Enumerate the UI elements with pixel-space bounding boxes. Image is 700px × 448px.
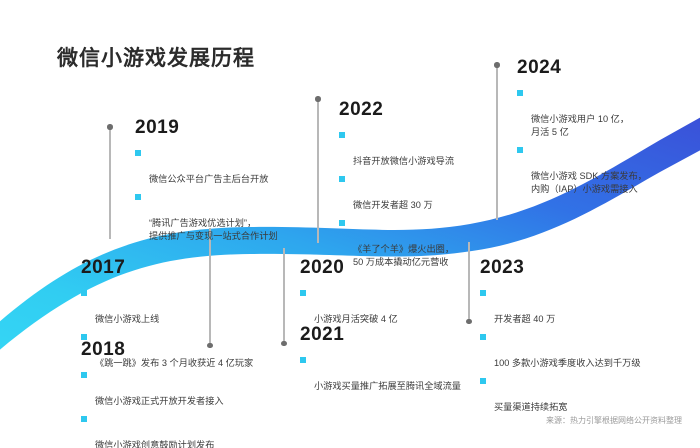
list-item-text: 抖音开放微信小游戏导流 <box>353 156 454 166</box>
milestone-items-2024: 微信小游戏用户 10 亿， 月活 5 亿 微信小游戏 SDK 方案发布， 内购（… <box>517 86 689 197</box>
list-item: 微信小游戏 SDK 方案发布， 内购（IAP）小游戏需接入 <box>517 143 689 196</box>
list-item: 微信小游戏用户 10 亿， 月活 5 亿 <box>517 86 689 139</box>
list-item-text: 微信小游戏用户 10 亿， 月活 5 亿 <box>531 114 629 137</box>
bullet-square-icon <box>517 90 523 96</box>
page-title: 微信小游戏发展历程 <box>57 42 255 72</box>
list-item-text: 微信小游戏 SDK 方案发布， 内购（IAP）小游戏需接入 <box>531 171 647 194</box>
list-item: 买量渠道持续拓宽 <box>480 374 675 414</box>
bullet-square-icon <box>517 147 523 153</box>
year-label-2023: 2023 <box>480 258 675 277</box>
list-item: “腾讯广告游戏优选计划”， 提供推广与变现一站式合作计划 <box>135 190 310 243</box>
list-item: 小游戏买量推广拓展至腾讯全域流量 <box>300 353 495 393</box>
bullet-square-icon <box>339 132 345 138</box>
connector-dot <box>315 96 321 102</box>
list-item-text: 微信小游戏上线 <box>95 314 159 324</box>
list-item: 微信小游戏正式开放开发者接入 <box>81 368 281 408</box>
list-item-text: 小游戏买量推广拓展至腾讯全域流量 <box>314 381 461 391</box>
bullet-square-icon <box>339 220 345 226</box>
bullet-square-icon <box>300 357 306 363</box>
list-item-text: 微信小游戏正式开放开发者接入 <box>95 396 224 406</box>
list-item: 微信小游戏上线 <box>81 286 281 326</box>
bullet-square-icon <box>339 176 345 182</box>
list-item-text: 小游戏月活突破 4 亿 <box>314 314 398 324</box>
bullet-square-icon <box>81 372 87 378</box>
list-item-text: “腾讯广告游戏优选计划”， 提供推广与变现一站式合作计划 <box>149 218 278 241</box>
milestone-items-2021: 小游戏买量推广拓展至腾讯全域流量 <box>300 353 495 393</box>
bullet-square-icon <box>480 334 486 340</box>
list-item: 100 多款小游戏季度收入达到千万级 <box>480 330 675 370</box>
milestone-items-2018: 微信小游戏正式开放开发者接入 微信小游戏创意鼓励计划发布 <box>81 368 281 448</box>
bullet-square-icon <box>300 290 306 296</box>
list-item-text: 微信小游戏创意鼓励计划发布 <box>95 440 214 448</box>
year-label-2022: 2022 <box>339 100 504 119</box>
list-item-text: 开发者超 40 万 <box>494 314 555 324</box>
year-label-2017: 2017 <box>81 258 281 277</box>
year-label-2019: 2019 <box>135 118 310 137</box>
infographic-canvas: 微信小游戏发展历程 2019 微信公众平台广告主后台开放 <box>0 0 700 448</box>
bullet-square-icon <box>81 416 87 422</box>
list-item-text: 100 多款小游戏季度收入达到千万级 <box>494 358 641 368</box>
list-item: 抖音开放微信小游戏导流 <box>339 128 504 168</box>
bullet-square-icon <box>480 290 486 296</box>
list-item: 微信小游戏创意鼓励计划发布 <box>81 412 281 448</box>
milestone-2021: 2021 小游戏买量推广拓展至腾讯全域流量 <box>300 325 495 397</box>
milestone-2018: 2018 微信小游戏正式开放开发者接入 微信小游戏创意鼓励计划发布 <box>81 340 281 448</box>
connector-line <box>317 96 319 243</box>
list-item: 微信公众平台广告主后台开放 <box>135 146 310 186</box>
connector-dot <box>107 124 113 130</box>
year-label-2020: 2020 <box>300 258 485 277</box>
milestone-items-2019: 微信公众平台广告主后台开放 “腾讯广告游戏优选计划”， 提供推广与变现一站式合作… <box>135 146 310 243</box>
year-label-2018: 2018 <box>81 340 281 359</box>
list-item: 开发者超 40 万 <box>480 286 675 326</box>
bullet-square-icon <box>135 150 141 156</box>
list-item-text: 微信公众平台广告主后台开放 <box>149 174 268 184</box>
source-attribution: 来源：热力引擎根据网络公开资料整理 <box>546 415 682 426</box>
year-label-2024: 2024 <box>517 58 689 77</box>
milestone-items-2023: 开发者超 40 万 100 多款小游戏季度收入达到千万级 买量渠道持续拓宽 <box>480 286 675 414</box>
bullet-square-icon <box>135 194 141 200</box>
milestone-items-2020: 小游戏月活突破 4 亿 <box>300 286 485 326</box>
connector-line <box>283 248 285 346</box>
milestone-2020: 2020 小游戏月活突破 4 亿 <box>300 258 485 330</box>
year-label-2021: 2021 <box>300 325 495 344</box>
bullet-square-icon <box>81 290 87 296</box>
connector-dot <box>494 62 500 68</box>
milestone-2022: 2022 抖音开放微信小游戏导流 微信开发者超 30 万 《羊了个羊》爆火出圈，… <box>339 100 504 273</box>
connector-line <box>109 124 111 239</box>
milestone-2023: 2023 开发者超 40 万 100 多款小游戏季度收入达到千万级 买量渠道持续… <box>480 258 675 418</box>
milestone-2024: 2024 微信小游戏用户 10 亿， 月活 5 亿 微信小游戏 SDK 方案发布… <box>517 58 689 201</box>
milestone-items-2022: 抖音开放微信小游戏导流 微信开发者超 30 万 《羊了个羊》爆火出圈， 50 万… <box>339 128 504 269</box>
list-item: 微信开发者超 30 万 <box>339 172 504 212</box>
list-item-text: 微信开发者超 30 万 <box>353 200 433 210</box>
bullet-square-icon <box>480 378 486 384</box>
milestone-2019: 2019 微信公众平台广告主后台开放 “腾讯广告游戏优选计划”， 提供推广与变现… <box>135 118 310 247</box>
list-item: 小游戏月活突破 4 亿 <box>300 286 485 326</box>
list-item-text: 买量渠道持续拓宽 <box>494 402 568 412</box>
connector-dot <box>281 341 287 347</box>
